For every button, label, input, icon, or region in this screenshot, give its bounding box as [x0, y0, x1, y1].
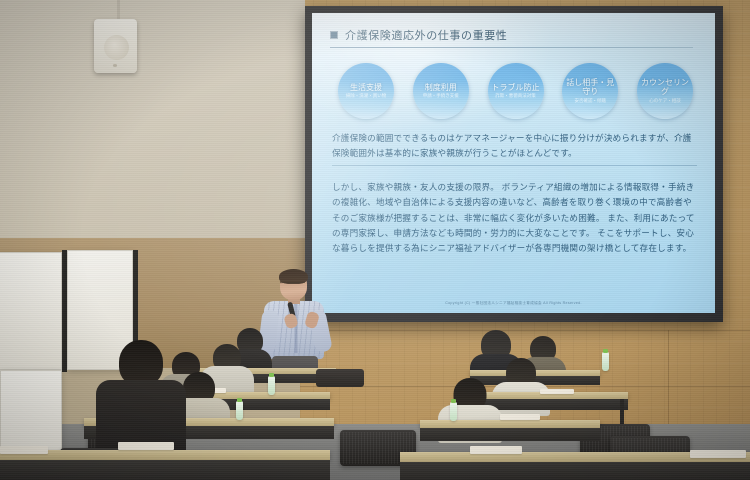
handout-paper-4: [500, 414, 540, 420]
slide-circle-3: トラブル防止 詐欺・悪徳商法対策: [488, 63, 544, 119]
slide-circle-1-label: 生活支援: [347, 83, 385, 92]
desk-row-1: [0, 450, 330, 460]
handout-paper-7: [470, 446, 522, 454]
attendee-front-left: [96, 340, 186, 450]
water-bottle-row3: [268, 376, 275, 395]
slide-title: 介護保険適応外の仕事の重要性: [345, 27, 507, 43]
slide-circle-3-sub: 詐欺・悪徳商法対策: [491, 93, 540, 99]
speaker-cone: [104, 35, 129, 60]
wall-plaster-left: [0, 0, 305, 252]
slide-circle-5-label: カウンセリング: [637, 78, 693, 96]
slide-paragraph-2: しかし、家族や親族・友人の支援の限界。 ボランティア組織の増加による情報取得・手…: [332, 180, 699, 256]
slide-circle-1-sub: 掃除・洗濯・買い物: [342, 93, 391, 99]
handout-paper-8: [690, 450, 746, 458]
handout-paper-6: [0, 446, 48, 454]
projection-screen-frame: 介護保険適応外の仕事の重要性 生活支援 掃除・洗濯・買い物 制度利用 申請・手続…: [305, 6, 723, 322]
slide-circle-2-label: 制度利用: [422, 83, 460, 92]
projected-slide: 介護保険適応外の仕事の重要性 生活支援 掃除・洗濯・買い物 制度利用 申請・手続…: [312, 13, 715, 313]
slide-copyright-footer: Copyright (C) 一般社団法人シニア福祉相談士育成協会 All Rig…: [312, 301, 715, 306]
slide-circle-5-sub: 心のケア・相談: [645, 98, 685, 104]
shoulder-bag: [316, 369, 364, 387]
slide-title-underline: [330, 47, 693, 48]
slide-circle-4: 話し相手・見守り 安否確認・傾聴: [562, 63, 618, 119]
slide-paragraph-divider: [332, 165, 697, 166]
desk-row-2-right-front: [420, 428, 600, 441]
slide-title-row: 介護保険適応外の仕事の重要性: [330, 27, 691, 43]
water-bottle-row2: [236, 401, 243, 420]
bottle-cap: [451, 399, 456, 403]
slide-paragraph-1: 介護保険の範囲でできるものはケアマネージャーを中心に振り分けが決められますが、介…: [332, 131, 697, 161]
bottle-cap: [269, 373, 274, 377]
desk-row-2-right: [420, 420, 600, 428]
bottle-cap: [237, 398, 242, 402]
handout-paper-5: [118, 442, 174, 450]
slide-circle-2: 制度利用 申請・手続き支援: [413, 63, 469, 119]
seminar-room-photo: 介護保険適応外の仕事の重要性 生活支援 掃除・洗濯・買い物 制度利用 申請・手続…: [0, 0, 750, 480]
slide-circle-1: 生活支援 掃除・洗濯・買い物: [338, 63, 394, 119]
presenter-glasses-icon: [282, 282, 305, 286]
slide-circle-4-label: 話し相手・見守り: [562, 78, 618, 96]
slide-circle-2-sub: 申請・手続き支援: [419, 93, 463, 99]
ceiling-speaker-icon: [94, 19, 137, 73]
partition-panel-1: [0, 252, 62, 370]
slide-circle-group: 生活支援 掃除・洗濯・買い物 制度利用 申請・手続き支援 トラブル防止 詐欺・悪…: [338, 63, 693, 119]
slide-circle-3-label: トラブル防止: [489, 83, 543, 92]
speaker-indicator: [113, 64, 117, 67]
water-bottle-row2-right: [450, 402, 457, 421]
slide-circle-4-sub: 安否確認・傾聴: [571, 98, 611, 104]
bottle-cap: [603, 349, 608, 353]
square-bullet-icon: [330, 31, 338, 39]
water-bottle-back: [602, 352, 609, 371]
wall-seam-vertical: [668, 330, 669, 428]
slide-circle-5: カウンセリング 心のケア・相談: [637, 63, 693, 119]
desk-row-1-right-front: [400, 462, 750, 480]
handout-paper-2: [540, 389, 574, 394]
desk-row-1-front: [0, 460, 330, 480]
wall-seam-horizontal: [300, 330, 750, 331]
